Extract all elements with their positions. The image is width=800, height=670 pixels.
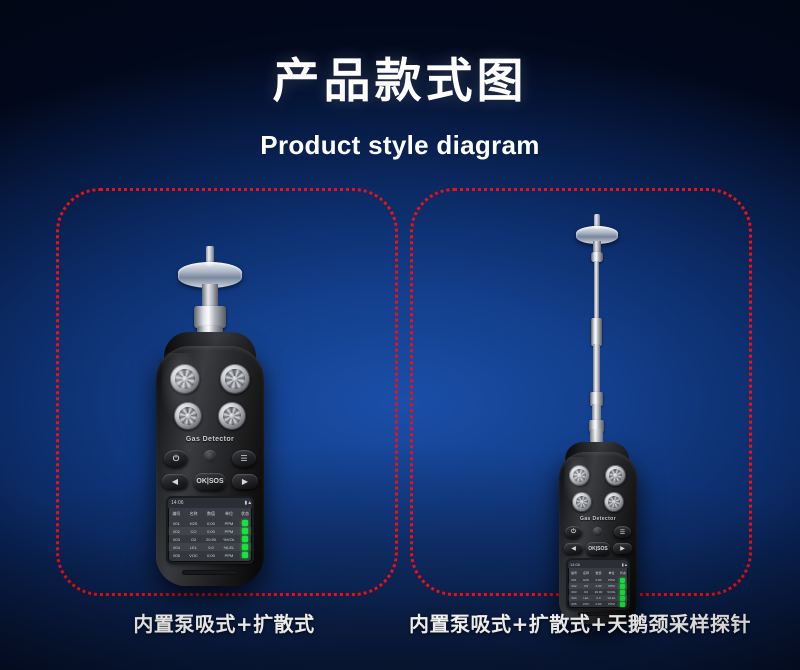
cell-name: H2S: [580, 578, 592, 582]
cell-name: O2: [580, 590, 592, 594]
cell-unit: PPM: [220, 529, 238, 534]
sensor-port-1: [170, 364, 200, 394]
device-body: Gas Detector ⏻ ☰ ◀ OK|SOS ▶ 14:06 ▮▲▮ 编号…: [156, 346, 264, 586]
device-right-pump-diffusion-probe: Gas Detector ⏻ ☰ ◀ OK|SOS ▶ 14:06 ▮▲▮ 编号…: [552, 214, 644, 586]
sensor-port-4: [218, 402, 246, 430]
cell-name: CO: [580, 584, 592, 588]
cell-no: 002: [168, 529, 185, 534]
status-led: [620, 578, 625, 583]
cell-no: 005: [568, 602, 580, 606]
cell-value: 0.0: [202, 545, 220, 550]
screen-col-no: 编号: [168, 511, 185, 517]
screen-col-unit: 单位: [605, 571, 618, 575]
device-screen[interactable]: 14:06 ▮▲▮ 编号 名称 数值 单位 状态 001 H2S 0.00 PP…: [168, 498, 252, 562]
cell-no: 002: [568, 584, 580, 588]
product-style-diagram-page: 产品款式图 Product style diagram Gas Detector…: [0, 0, 800, 670]
probe-rod-joint-1: [591, 318, 602, 346]
cell-value: 0.00: [202, 521, 220, 526]
cell-value: 20.90: [592, 590, 605, 594]
screen-status-bar: 14:06 ▮▲▮: [168, 498, 252, 508]
cell-unit: PPM: [220, 521, 238, 526]
sensor-port-2: [605, 465, 626, 486]
cell-no: 003: [168, 537, 185, 542]
screen-status-icons: ▮▲▮: [245, 500, 252, 506]
screen-data-row: 002 CO 0.00 PPM: [168, 527, 252, 535]
cell-name: VOC: [185, 553, 202, 558]
sensor-port-2: [220, 364, 250, 394]
screen-header-row: 编号 名称 数值 单位 状态: [168, 509, 252, 518]
ok-sos-button[interactable]: OK|SOS: [586, 542, 610, 555]
screen-col-name: 名称: [185, 511, 202, 517]
cell-unit: PPM: [605, 602, 618, 606]
cell-unit: %VOL: [605, 590, 618, 594]
cell-name: CO: [185, 529, 202, 534]
caption-right: 内置泵吸式+扩散式+天鹅颈采样探针: [400, 608, 760, 637]
menu-button[interactable]: ☰: [232, 450, 256, 467]
screen-col-state: 状态: [238, 511, 252, 517]
left-arrow-button[interactable]: ◀: [564, 543, 583, 554]
alarm-led: [204, 450, 216, 462]
cell-name: VOC: [580, 602, 592, 606]
cell-value: 0.0: [592, 596, 605, 600]
power-light-button[interactable]: ⏻: [565, 526, 582, 538]
cell-value: 0.00: [202, 529, 220, 534]
cell-unit: PPM: [605, 578, 618, 582]
screen-data-row: 005 VOC 0.00 PPM: [168, 551, 252, 559]
status-led: [242, 520, 248, 526]
screen-data-row: 005 VOC 0.00 PPM: [568, 601, 628, 607]
screen-data-row: 004 LEL 0.0 %LEL: [168, 543, 252, 551]
status-led: [620, 584, 625, 589]
cell-unit: %LEL: [605, 596, 618, 600]
cell-no: 001: [168, 521, 185, 526]
status-led: [620, 590, 625, 595]
sensor-port-3: [174, 402, 202, 430]
device-body: Gas Detector ⏻ ☰ ◀ OK|SOS ▶ 14:06 ▮▲▮ 编号…: [559, 452, 637, 624]
device-left-pump-diffusion: Gas Detector ⏻ ☰ ◀ OK|SOS ▶ 14:06 ▮▲▮ 编号…: [150, 246, 270, 586]
cell-no: 005: [168, 553, 185, 558]
cell-no: 003: [568, 590, 580, 594]
probe-rod-upper: [594, 261, 599, 321]
ok-sos-button[interactable]: OK|SOS: [194, 473, 226, 490]
screen-col-unit: 单位: [220, 511, 238, 517]
status-led: [620, 596, 625, 601]
alarm-led: [593, 527, 602, 536]
caption-left: 内置泵吸式+扩散式: [56, 608, 392, 637]
screen-col-value: 数值: [202, 511, 220, 517]
filter-collar: [194, 306, 226, 328]
sensor-port-1: [569, 465, 590, 486]
screen-time: 14:06: [570, 562, 580, 567]
cell-unit: PPM: [605, 584, 618, 588]
screen-col-value: 数值: [592, 571, 605, 575]
status-led: [242, 544, 248, 550]
screen-status-icons: ▮▲▮: [622, 562, 628, 567]
page-title-en: Product style diagram: [0, 130, 800, 161]
cell-unit: PPM: [220, 553, 238, 558]
status-led: [620, 602, 625, 607]
cell-unit: %VOL: [220, 537, 238, 542]
cell-value: 0.00: [592, 578, 605, 582]
speaker-grille: [182, 570, 238, 575]
screen-status-bar: 14:06 ▮▲▮: [568, 560, 628, 568]
cell-no: 004: [168, 545, 185, 550]
cell-no: 001: [568, 578, 580, 582]
status-led: [242, 552, 248, 558]
screen-header-row: 编号 名称 数值 单位 状态: [568, 569, 628, 576]
page-title-cn: 产品款式图: [0, 42, 800, 111]
cell-name: H2S: [185, 521, 202, 526]
sensor-port-4: [604, 492, 624, 512]
screen-data-row: 001 H2S 0.00 PPM: [168, 519, 252, 527]
cell-name: LEL: [185, 545, 202, 550]
cell-unit: %LEL: [220, 545, 238, 550]
cell-value: 0.00: [592, 584, 605, 588]
device-screen[interactable]: 14:06 ▮▲▮ 编号 名称 数值 单位 状态 001 H2S 0.00 PP…: [568, 560, 628, 608]
status-led: [242, 536, 248, 542]
screen-col-state: 状态: [618, 571, 628, 575]
cell-name: LEL: [580, 596, 592, 600]
screen-col-name: 名称: [580, 571, 592, 575]
cell-value: 20.90: [202, 537, 220, 542]
status-led: [242, 528, 248, 534]
right-arrow-button[interactable]: ▶: [613, 543, 632, 554]
cell-value: 0.00: [592, 602, 605, 606]
menu-button[interactable]: ☰: [614, 526, 631, 538]
right-arrow-button[interactable]: ▶: [232, 474, 258, 489]
screen-time: 14:06: [171, 500, 184, 506]
left-arrow-button[interactable]: ◀: [162, 474, 188, 489]
probe-rod-mid: [593, 344, 600, 394]
sensor-port-3: [572, 492, 592, 512]
power-light-button[interactable]: ⏻: [164, 450, 188, 467]
screen-data-row: 003 O2 20.90 %VOL: [168, 535, 252, 543]
cell-name: O2: [185, 537, 202, 542]
cell-value: 0.00: [202, 553, 220, 558]
cell-no: 004: [568, 596, 580, 600]
screen-col-no: 编号: [568, 571, 580, 575]
device-brand-label: Gas Detector: [559, 516, 637, 522]
device-brand-label: Gas Detector: [156, 436, 264, 443]
